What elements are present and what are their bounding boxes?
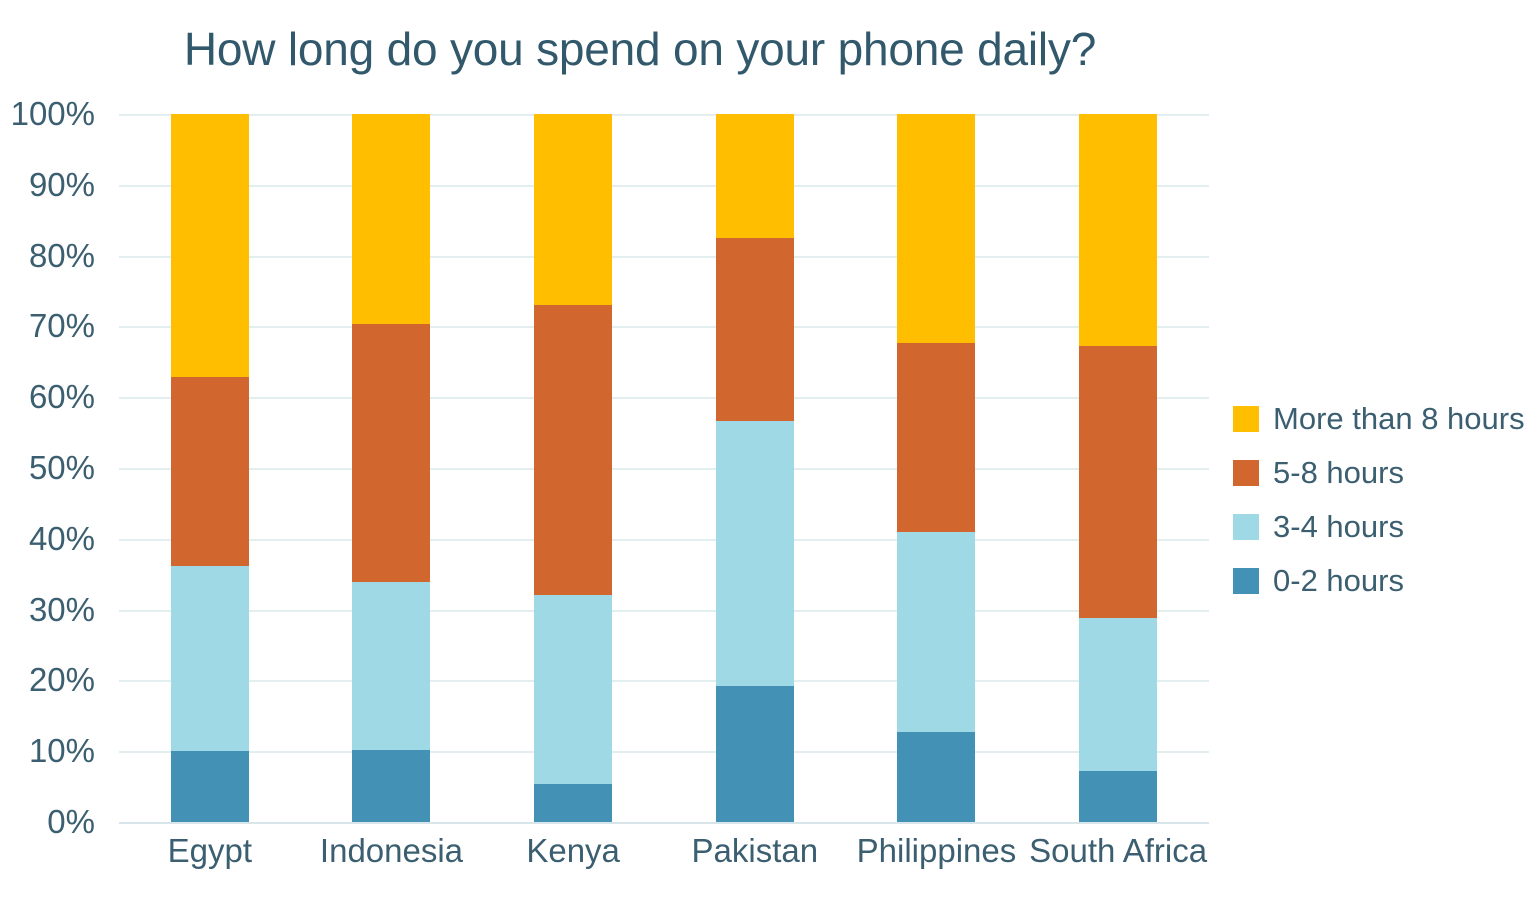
stacked-bar[interactable] <box>171 114 249 822</box>
y-axis-tick-label: 40% <box>29 520 95 558</box>
bar-segment[interactable] <box>534 595 612 784</box>
bar-segment[interactable] <box>171 377 249 565</box>
legend-item-label: 3-4 hours <box>1273 509 1404 545</box>
x-axis-tick-label: Pakistan <box>664 832 845 870</box>
bar-segment[interactable] <box>897 114 975 343</box>
stacked-bar[interactable] <box>716 114 794 822</box>
stacked-bar[interactable] <box>1079 114 1157 822</box>
bar-segment[interactable] <box>171 114 249 377</box>
bar-segment[interactable] <box>716 421 794 686</box>
gridline <box>119 822 1209 824</box>
legend-item[interactable]: 3-4 hours <box>1233 500 1533 554</box>
y-axis-tick-label: 20% <box>29 661 95 699</box>
x-axis: EgyptIndonesiaKenyaPakistanPhilippinesSo… <box>119 832 1209 888</box>
legend-swatch-icon <box>1233 460 1259 486</box>
x-axis-tick-label: South Africa <box>1028 832 1209 870</box>
bar-segment[interactable] <box>534 784 612 822</box>
chart-container: How long do you spend on your phone dail… <box>0 0 1536 898</box>
y-axis-tick-label: 30% <box>29 591 95 629</box>
bar-groups <box>119 114 1209 822</box>
bar-segment[interactable] <box>1079 114 1157 346</box>
x-axis-tick-label: Kenya <box>483 832 664 870</box>
legend-item-label: 0-2 hours <box>1273 563 1404 599</box>
bar-segment[interactable] <box>352 114 430 324</box>
legend-item[interactable]: More than 8 hours <box>1233 392 1533 446</box>
y-axis-tick-label: 90% <box>29 166 95 204</box>
y-axis-tick-label: 80% <box>29 237 95 275</box>
bar-segment[interactable] <box>534 305 612 595</box>
legend-swatch-icon <box>1233 514 1259 540</box>
stacked-bar[interactable] <box>352 114 430 822</box>
chart-legend: More than 8 hours5-8 hours3-4 hours0-2 h… <box>1233 392 1533 608</box>
bar-group <box>119 114 300 822</box>
bar-segment[interactable] <box>716 686 794 822</box>
y-axis-tick-label: 60% <box>29 378 95 416</box>
y-axis-tick-label: 70% <box>29 307 95 345</box>
legend-item[interactable]: 5-8 hours <box>1233 446 1533 500</box>
bar-segment[interactable] <box>352 750 430 822</box>
legend-item-label: 5-8 hours <box>1273 455 1404 491</box>
chart-title: How long do you spend on your phone dail… <box>0 22 1280 76</box>
bar-group <box>846 114 1027 822</box>
bar-segment[interactable] <box>534 114 612 305</box>
legend-item-label: More than 8 hours <box>1273 401 1525 437</box>
bar-segment[interactable] <box>352 582 430 750</box>
bar-segment[interactable] <box>171 566 249 751</box>
bar-segment[interactable] <box>716 114 794 238</box>
y-axis-tick-label: 10% <box>29 732 95 770</box>
x-axis-tick-label: Philippines <box>846 832 1027 870</box>
bar-segment[interactable] <box>897 532 975 732</box>
bar-segment[interactable] <box>171 751 249 822</box>
legend-item[interactable]: 0-2 hours <box>1233 554 1533 608</box>
bar-group <box>483 114 664 822</box>
bar-segment[interactable] <box>1079 346 1157 618</box>
y-axis-tick-label: 50% <box>29 449 95 487</box>
legend-swatch-icon <box>1233 406 1259 432</box>
bar-group <box>301 114 482 822</box>
bar-segment[interactable] <box>1079 771 1157 822</box>
y-axis: 100%90%80%70%60%50%40%30%20%10%0% <box>0 114 105 822</box>
bar-segment[interactable] <box>897 732 975 822</box>
bar-segment[interactable] <box>352 324 430 582</box>
y-axis-tick-label: 100% <box>11 95 95 133</box>
bar-segment[interactable] <box>897 343 975 533</box>
x-axis-tick-label: Indonesia <box>301 832 482 870</box>
stacked-bar[interactable] <box>534 114 612 822</box>
bar-segment[interactable] <box>1079 618 1157 771</box>
stacked-bar[interactable] <box>897 114 975 822</box>
x-axis-tick-label: Egypt <box>119 832 300 870</box>
bar-group <box>1028 114 1209 822</box>
plot-area <box>119 114 1209 822</box>
y-axis-tick-label: 0% <box>47 803 95 841</box>
bar-segment[interactable] <box>716 238 794 421</box>
legend-swatch-icon <box>1233 568 1259 594</box>
bar-group <box>664 114 845 822</box>
